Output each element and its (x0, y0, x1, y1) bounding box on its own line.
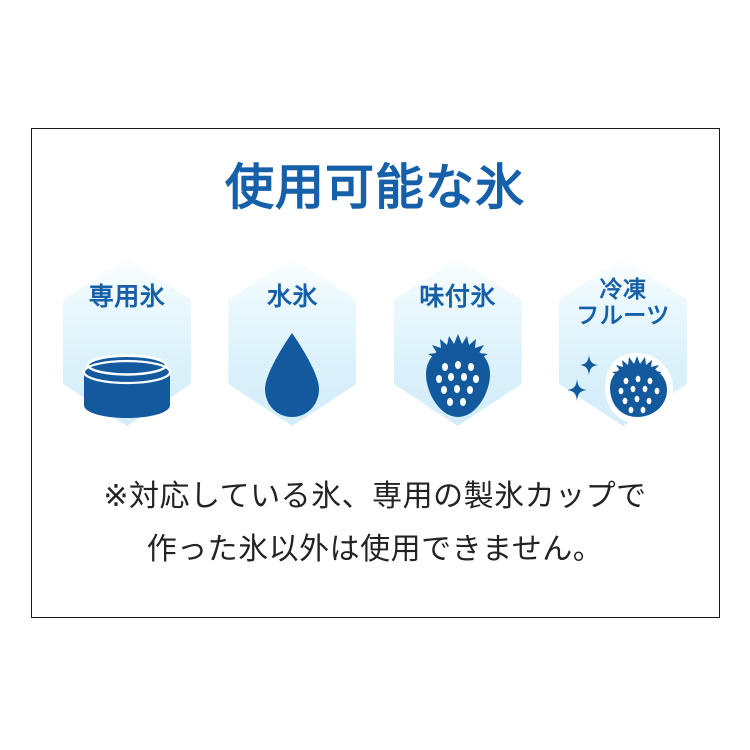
ice-type-label: 水氷 (220, 284, 364, 311)
ice-type-item-water-ice: 水氷 (220, 258, 364, 433)
ice-type-item-frozen-fruit: 冷凍 フルーツ (551, 258, 695, 433)
ice-type-label: 冷凍 フルーツ (551, 276, 695, 328)
ice-cup-icon (55, 333, 199, 419)
usage-note: ※対応している氷、専用の製氷カップで 作った氷以外は使用できません。 (0, 470, 750, 576)
ice-type-label: 味付氷 (386, 284, 530, 311)
strawberry-icon (386, 333, 530, 419)
ice-type-item-flavored-ice: 味付氷 (386, 258, 530, 433)
water-drop-icon (220, 333, 364, 419)
ice-type-list: 専用氷 水氷 (55, 258, 695, 433)
usage-note-line-1: ※対応している氷、専用の製氷カップで (0, 470, 750, 523)
ice-compatibility-infographic: 使用可能な氷 専用氷 水氷 (0, 0, 750, 750)
usage-note-line-2: 作った氷以外は使用できません。 (0, 523, 750, 576)
page-title: 使用可能な氷 (0, 164, 750, 213)
sparkle-shapes (567, 355, 598, 401)
frozen-strawberry-icon (551, 351, 695, 425)
ice-type-label: 専用氷 (55, 284, 199, 311)
ice-type-item-dedicated-ice: 専用氷 (55, 258, 199, 433)
